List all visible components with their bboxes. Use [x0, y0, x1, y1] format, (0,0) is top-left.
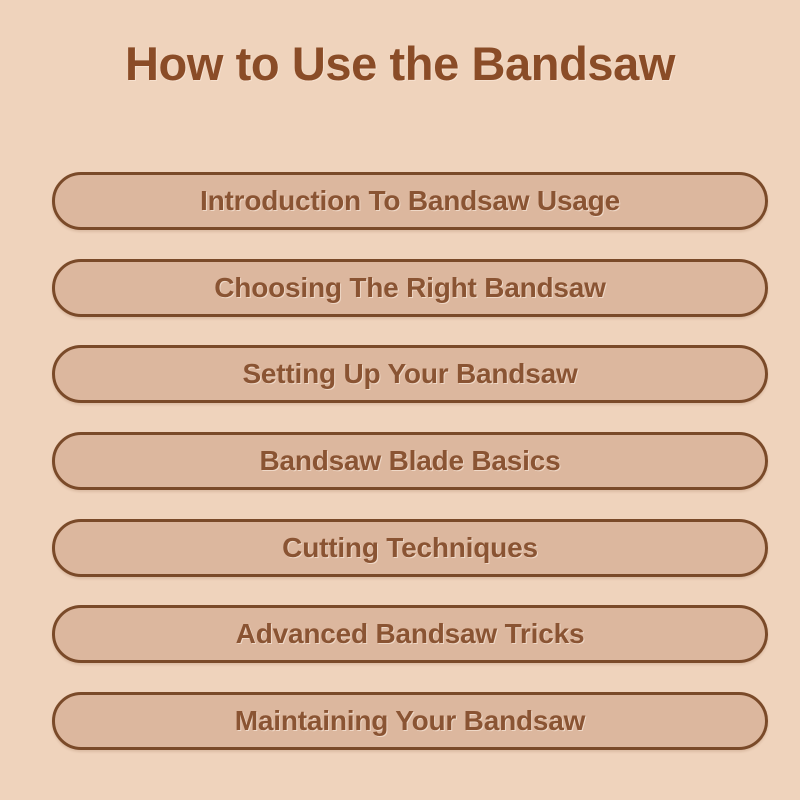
step-pill-6[interactable]: Advanced Bandsaw Tricks — [52, 605, 768, 663]
steps-list: Introduction To Bandsaw Usage Choosing T… — [52, 172, 768, 750]
step-pill-7[interactable]: Maintaining Your Bandsaw — [52, 692, 768, 750]
step-label: Bandsaw Blade Basics — [259, 447, 560, 475]
page-title: How to Use the Bandsaw — [0, 36, 800, 91]
step-pill-3[interactable]: Setting Up Your Bandsaw — [52, 345, 768, 403]
step-pill-1[interactable]: Introduction To Bandsaw Usage — [52, 172, 768, 230]
step-label: Cutting Techniques — [282, 534, 538, 562]
step-pill-5[interactable]: Cutting Techniques — [52, 519, 768, 577]
step-label: Choosing The Right Bandsaw — [214, 274, 605, 302]
step-label: Maintaining Your Bandsaw — [235, 707, 585, 735]
step-label: Setting Up Your Bandsaw — [242, 360, 577, 388]
step-label: Advanced Bandsaw Tricks — [236, 620, 585, 648]
step-label: Introduction To Bandsaw Usage — [200, 187, 620, 215]
infographic-canvas: How to Use the Bandsaw Introduction To B… — [0, 0, 800, 800]
step-pill-4[interactable]: Bandsaw Blade Basics — [52, 432, 768, 490]
step-pill-2[interactable]: Choosing The Right Bandsaw — [52, 259, 768, 317]
